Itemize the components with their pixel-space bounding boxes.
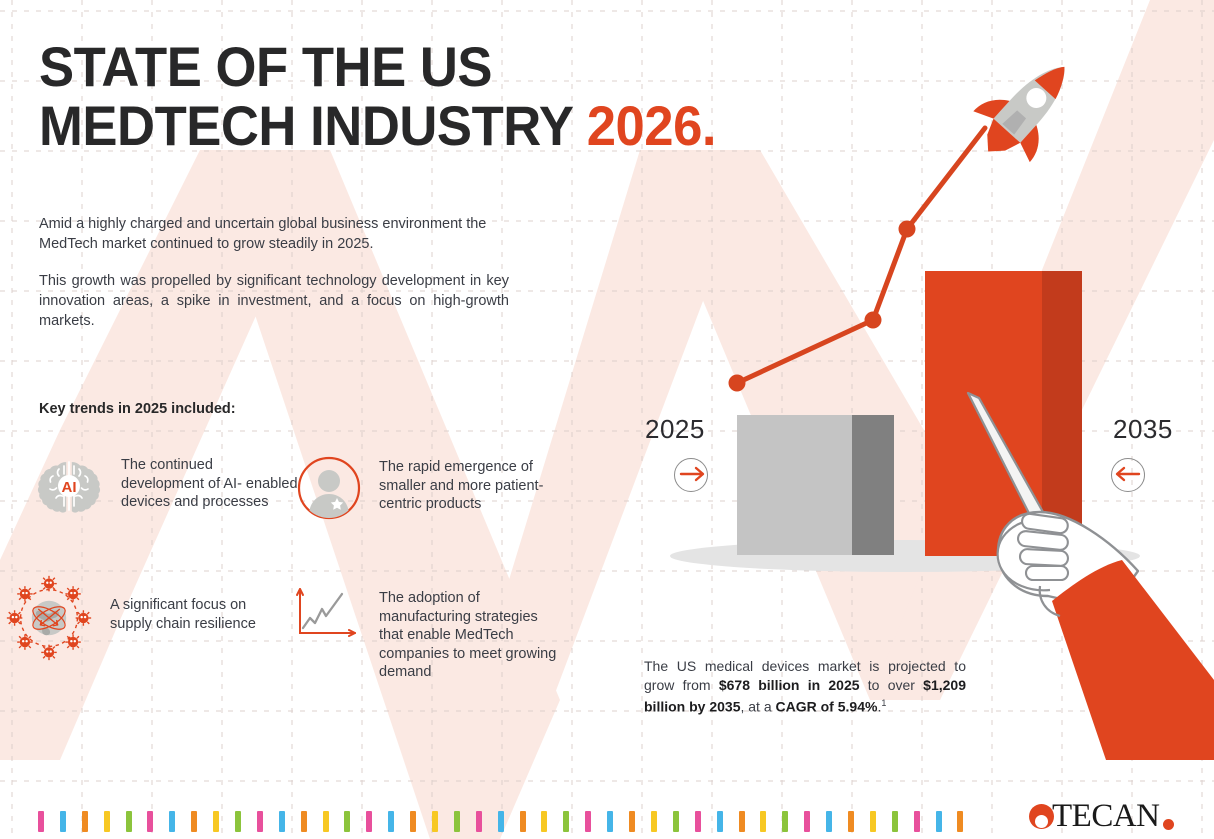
colorbar-segment [257, 811, 263, 832]
colorbar-segment [892, 811, 898, 832]
colorbar-segment [782, 811, 788, 832]
colorbar-segment [454, 811, 460, 832]
colorbar-segment [104, 811, 110, 832]
colorbar-segment [323, 811, 329, 832]
colorbar-segment [410, 811, 416, 832]
colorbar-segment [673, 811, 679, 832]
infographic-page: STATE OF THE US MEDTECH INDUSTRY 2026. A… [0, 0, 1214, 839]
arrow-right-button[interactable] [674, 458, 708, 492]
market-projection-caption: The US medical devices market is project… [644, 657, 966, 716]
tecan-logo-wordmark: TECAN [1052, 798, 1160, 835]
colorbar-segment [279, 811, 285, 832]
market-growth-illustration [0, 0, 1214, 839]
colorbar-segment [82, 811, 88, 832]
bar-2025 [737, 415, 894, 555]
colorbar-segment [60, 811, 66, 832]
hand-with-pointer-icon [968, 393, 1214, 760]
colorbar-segment [629, 811, 635, 832]
colorbar-segment [169, 811, 175, 832]
tecan-logo-mark-icon [1029, 804, 1054, 829]
colorbar-segment [520, 811, 526, 832]
colorbar-segment [804, 811, 810, 832]
colorbar-segment [739, 811, 745, 832]
colorbar-segment [651, 811, 657, 832]
arrow-left-button[interactable] [1111, 458, 1145, 492]
colorbar-segment [235, 811, 241, 832]
colorbar-segment [344, 811, 350, 832]
colorbar-segment [760, 811, 766, 832]
colorbar-segment [38, 811, 44, 832]
caption-value-2025: $678 billion in 2025 [719, 677, 860, 693]
colorbar-segment [213, 811, 219, 832]
footer-colorbar [38, 811, 1000, 832]
rocket-icon [960, 41, 1093, 177]
colorbar-segment [476, 811, 482, 832]
caption-post: , at a [740, 699, 775, 715]
colorbar-segment [301, 811, 307, 832]
colorbar-segment [826, 811, 832, 832]
colorbar-segment [914, 811, 920, 832]
colorbar-segment [585, 811, 591, 832]
year-label-start: 2025 [645, 414, 705, 445]
colorbar-segment [147, 811, 153, 832]
colorbar-segment [957, 811, 963, 832]
colorbar-segment [717, 811, 723, 832]
colorbar-segment [388, 811, 394, 832]
colorbar-segment [607, 811, 613, 832]
tecan-logo[interactable]: TECAN [1029, 798, 1174, 835]
colorbar-segment [870, 811, 876, 832]
colorbar-segment [432, 811, 438, 832]
caption-mid: to over [860, 677, 924, 693]
colorbar-segment [541, 811, 547, 832]
colorbar-segment [126, 811, 132, 832]
colorbar-segment [936, 811, 942, 832]
colorbar-segment [191, 811, 197, 832]
colorbar-segment [366, 811, 372, 832]
tecan-logo-dot-icon [1163, 819, 1174, 830]
caption-cagr: CAGR of 5.94% [776, 699, 878, 715]
colorbar-segment [695, 811, 701, 832]
colorbar-segment [563, 811, 569, 832]
colorbar-segment [498, 811, 504, 832]
colorbar-segment [848, 811, 854, 832]
year-label-end: 2035 [1113, 414, 1173, 445]
caption-footnote-marker: 1 [881, 698, 886, 708]
bar-2035 [925, 271, 1082, 556]
